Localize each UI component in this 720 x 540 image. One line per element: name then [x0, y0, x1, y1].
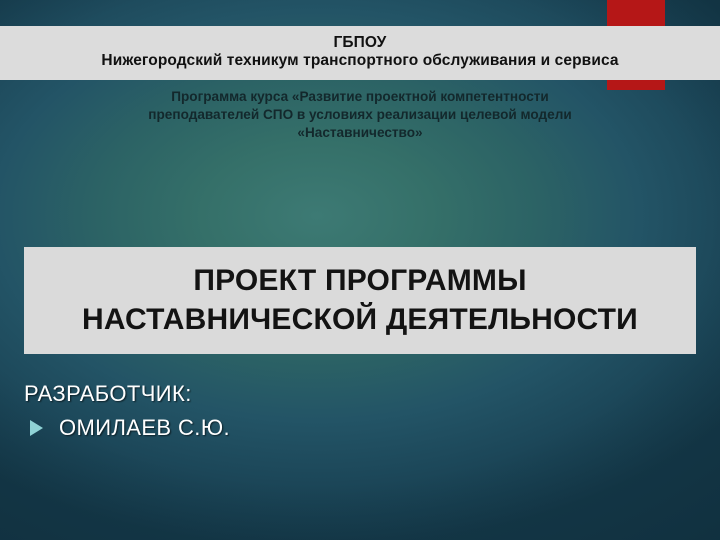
- triangle-right-icon: [30, 420, 43, 436]
- developer-name: ОМИЛАЕВ С.Ю.: [59, 415, 230, 441]
- course-subtitle-line-3: «Наставничество»: [55, 124, 665, 142]
- developer-label: РАЗРАБОТЧИК:: [24, 380, 664, 409]
- course-subtitle-line-2: преподавателей СПО в условиях реализации…: [55, 106, 665, 124]
- slide-title-line-1: ПРОЕКТ ПРОГРАММЫ: [193, 262, 526, 300]
- slide-title-panel: ПРОЕКТ ПРОГРАММЫ НАСТАВНИЧЕСКОЙ ДЕЯТЕЛЬН…: [24, 247, 696, 354]
- list-item: ОМИЛАЕВ С.Ю.: [24, 415, 664, 441]
- course-subtitle: Программа курса «Развитие проектной комп…: [55, 88, 665, 142]
- slide-title-line-2: НАСТАВНИЧЕСКОЙ ДЕЯТЕЛЬНОСТИ: [82, 301, 638, 339]
- institution-abbreviation: ГБПОУ: [334, 35, 387, 51]
- presentation-slide: ГБПОУ Нижегородский техникум транспортно…: [0, 0, 720, 540]
- institution-full-name: Нижегородский техникум транспортного обс…: [101, 52, 618, 71]
- course-subtitle-line-1: Программа курса «Развитие проектной комп…: [55, 88, 665, 106]
- author-block: РАЗРАБОТЧИК: ОМИЛАЕВ С.Ю.: [24, 380, 664, 441]
- institution-header-band: ГБПОУ Нижегородский техникум транспортно…: [0, 26, 720, 80]
